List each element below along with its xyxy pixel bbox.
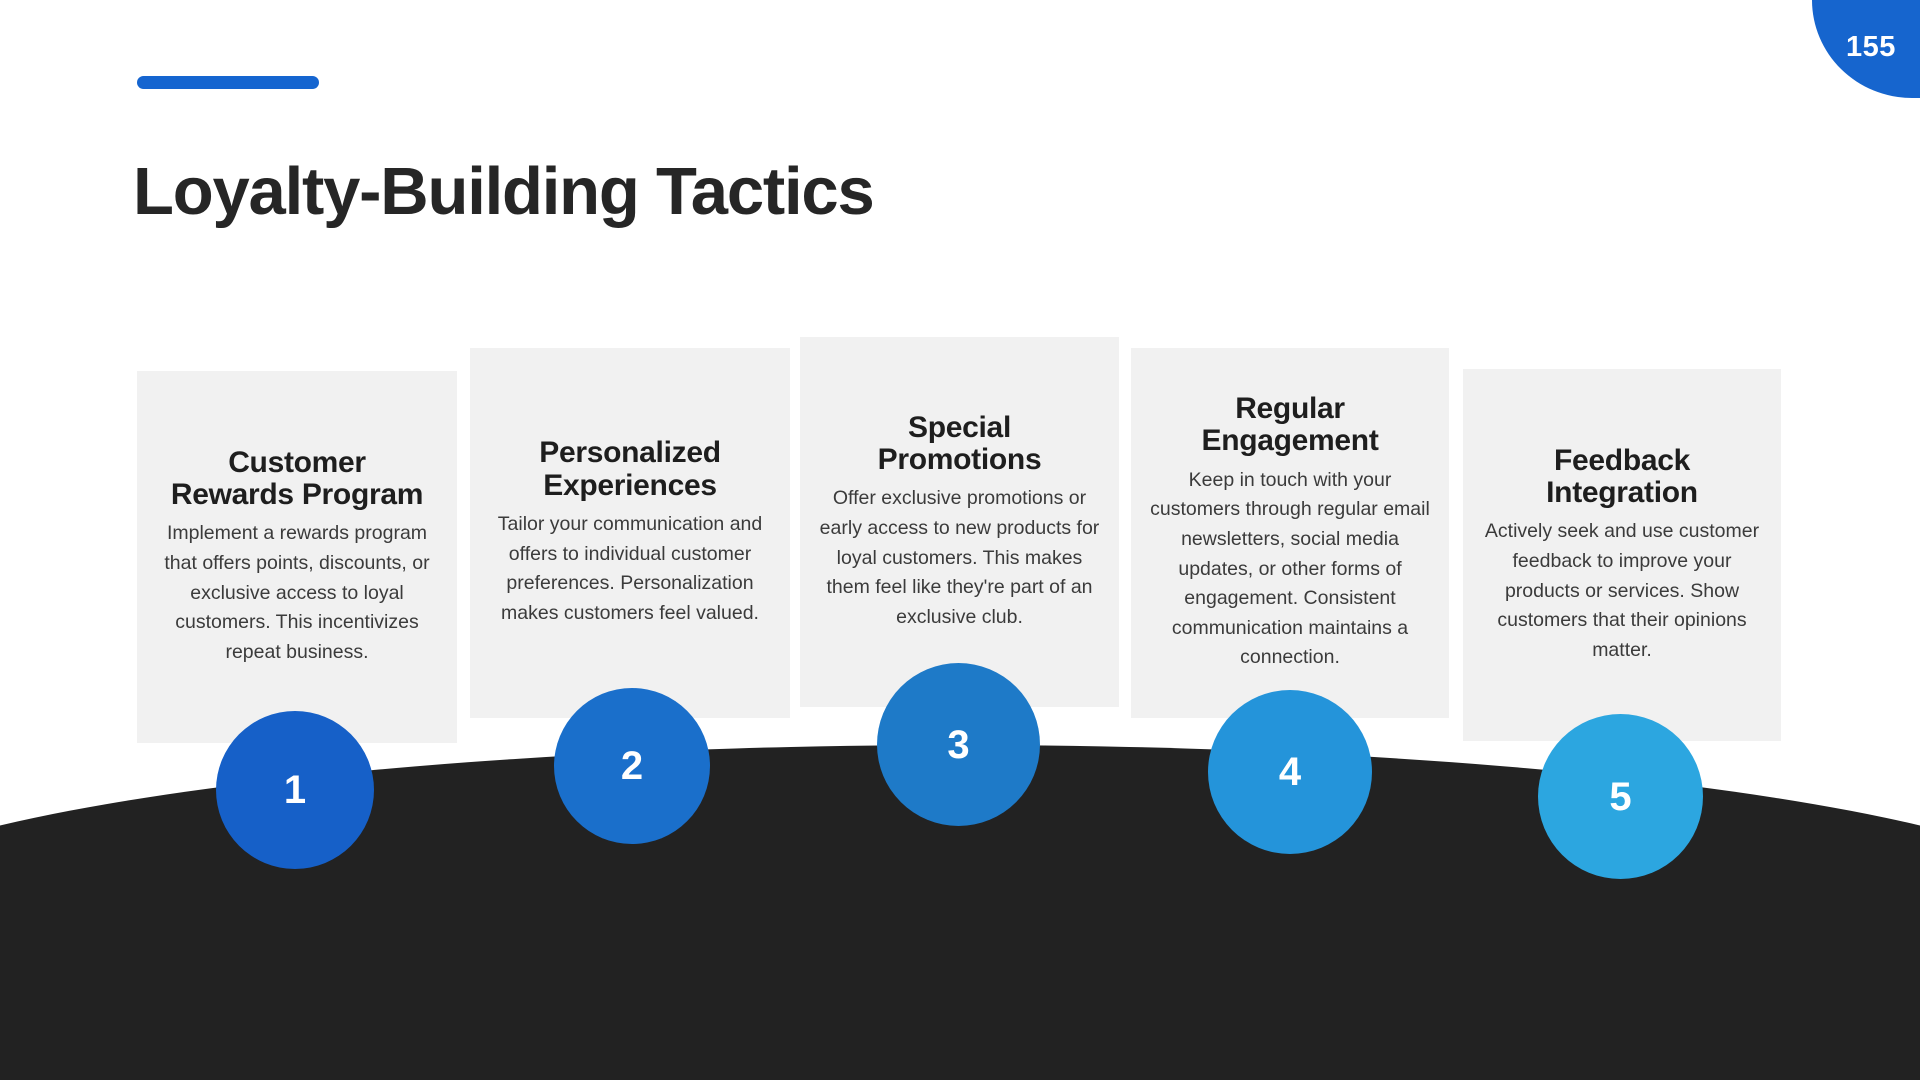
tactic-card-title: Regular Engagement: [1160, 393, 1420, 458]
tactic-card-body: Actively seek and use customer feedback …: [1481, 517, 1763, 665]
tactic-card-body: Implement a rewards program that offers …: [155, 519, 439, 667]
tactic-card-5[interactable]: Feedback Integration Actively seek and u…: [1463, 369, 1781, 741]
tactic-card-body: Keep in touch with your customers throug…: [1149, 466, 1431, 673]
tactic-card-body: Offer exclusive promotions or early acce…: [818, 484, 1101, 632]
step-circle-number: 1: [284, 770, 306, 810]
tactic-card-title: Customer Rewards Program: [167, 447, 427, 512]
tactic-card-body: Tailor your communication and offers to …: [488, 510, 772, 629]
step-circle-2[interactable]: 2: [554, 688, 710, 844]
step-circle-5[interactable]: 5: [1538, 714, 1703, 879]
tactic-card-4[interactable]: Regular Engagement Keep in touch with yo…: [1131, 348, 1449, 718]
step-circle-number: 2: [621, 746, 643, 786]
step-circle-4[interactable]: 4: [1208, 690, 1372, 854]
title-accent-bar: [137, 76, 319, 89]
step-circle-number: 4: [1279, 752, 1301, 792]
step-circle-3[interactable]: 3: [877, 663, 1040, 826]
slide-canvas: 155 Loyalty-Building Tactics Customer Re…: [0, 0, 1920, 1080]
tactic-card-2[interactable]: Personalized Experiences Tailor your com…: [470, 348, 790, 718]
tactic-card-1[interactable]: Customer Rewards Program Implement a rew…: [137, 371, 457, 743]
tactic-card-title: Feedback Integration: [1492, 445, 1752, 510]
tactic-card-3[interactable]: Special Promotions Offer exclusive promo…: [800, 337, 1119, 707]
step-circle-number: 3: [947, 725, 969, 765]
page-number-badge: 155: [1812, 0, 1920, 98]
step-circle-number: 5: [1609, 777, 1631, 817]
page-number-label: 155: [1846, 33, 1896, 62]
tactic-card-title: Personalized Experiences: [500, 437, 760, 502]
step-circle-1[interactable]: 1: [216, 711, 374, 869]
page-title: Loyalty-Building Tactics: [133, 153, 874, 230]
tactic-card-title: Special Promotions: [830, 412, 1090, 477]
